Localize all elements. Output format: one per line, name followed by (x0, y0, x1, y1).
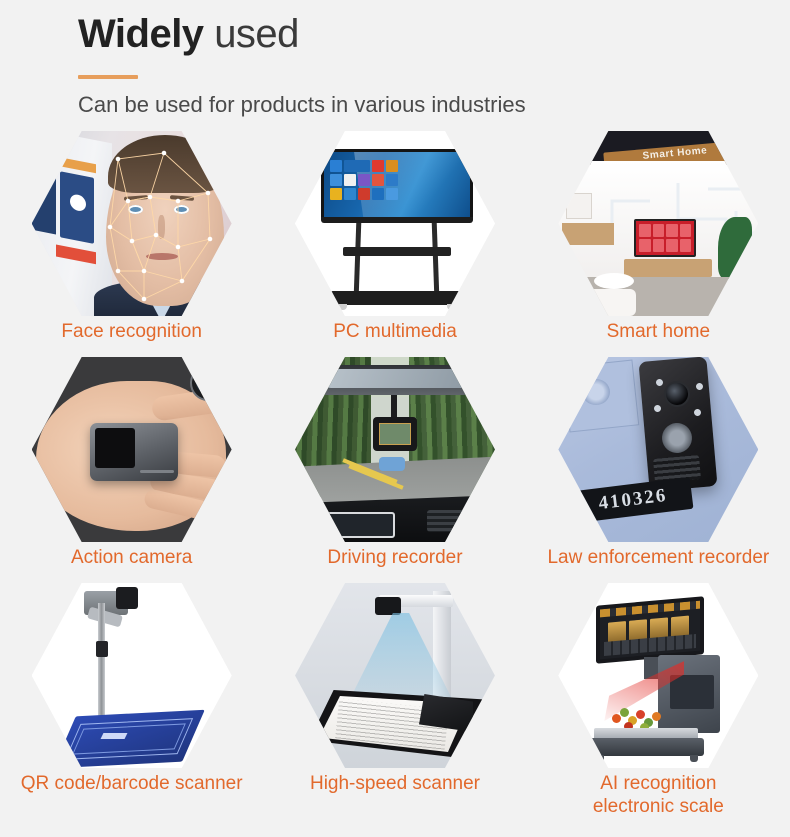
stand-pole-right (432, 223, 440, 295)
smart-home-illustration: Smart Home (558, 131, 758, 316)
industry-grid: Face recognition (0, 131, 790, 809)
hexagon-image-high-speed-scanner (295, 583, 495, 768)
camera-lens-glass (196, 371, 220, 395)
hexagon-image-ai-recognition-electronic-scale (558, 583, 758, 768)
vanity-cabinet (562, 223, 614, 245)
page-title-light: used (214, 12, 299, 56)
stand-shelf (343, 247, 451, 256)
tv-content-grid (639, 224, 691, 252)
stand-pole-left (354, 223, 362, 295)
grid-item-driving-recorder[interactable]: Driving recorder (263, 357, 526, 583)
grid-item-smart-home[interactable]: Smart Home (527, 131, 790, 357)
display-panel (321, 149, 473, 221)
scanner-base-plate (53, 710, 205, 768)
grid-item-ai-recognition-electronic-scale[interactable]: AI recognition electronic scale (527, 583, 790, 809)
caster-wheel-left (337, 304, 347, 310)
grid-item-pc-multimedia[interactable]: PC multimedia (263, 131, 526, 357)
wall-television (634, 219, 696, 257)
robot-vacuum (722, 298, 746, 308)
hexagon-image-pc-multimedia (295, 131, 495, 316)
camera-rear-screen (95, 428, 135, 468)
hex-image-wrap (295, 131, 495, 316)
display-screen (324, 152, 470, 218)
hexagon-image-face-recognition (32, 131, 232, 316)
showroom-floor (558, 277, 758, 316)
caption-driving-recorder: Driving recorder (327, 546, 462, 570)
officer-number-text: 410326 (598, 485, 669, 515)
hexagon-image-driving-recorder (295, 357, 495, 542)
scanner-camera-head (116, 587, 138, 609)
scanner-camera-head (375, 597, 401, 615)
hex-image-wrap (32, 357, 232, 542)
air-freshener (379, 457, 405, 471)
rear-view-mirror-glass (325, 369, 467, 388)
caption-face-recognition: Face recognition (61, 320, 201, 344)
potted-plant (718, 217, 752, 279)
hex-image-wrap (295, 583, 495, 768)
caption-ai-recognition-electronic-scale: AI recognition electronic scale (568, 772, 748, 818)
high-speed-scanner-illustration (295, 583, 495, 768)
law-enforcement-recorder-illustration: 410326 (558, 357, 758, 542)
caption-law-enforcement-recorder: Law enforcement recorder (547, 546, 769, 570)
face-recognition-illustration (32, 131, 232, 316)
caption-smart-home: Smart home (607, 320, 710, 344)
driving-recorder-illustration (295, 357, 495, 542)
hexagon-image-law-enforcement-recorder: 410326 (558, 357, 758, 542)
hex-image-wrap (32, 131, 232, 316)
scale-foot-right (690, 755, 698, 762)
scale-plinth (588, 738, 704, 756)
hexagon-image-qr-barcode-scanner (32, 583, 232, 768)
air-vent (427, 510, 473, 532)
pole-clamp (96, 641, 108, 657)
base-logo-mark (100, 733, 127, 739)
hex-image-wrap (295, 357, 495, 542)
action-camera-body (90, 423, 178, 481)
caption-action-camera: Action camera (71, 546, 192, 570)
grid-item-face-recognition[interactable]: Face recognition (0, 131, 263, 357)
grid-item-qr-barcode-scanner[interactable]: QR code/barcode scanner (0, 583, 263, 809)
hexagon-image-smart-home: Smart Home (558, 131, 758, 316)
scale-touchscreen (596, 596, 704, 663)
hex-image-wrap: 410326 (558, 357, 758, 542)
bathroom-mirror (566, 193, 592, 219)
hex-image-wrap: Smart Home (558, 131, 758, 316)
caster-wheel-right (447, 304, 457, 310)
sofa (576, 289, 636, 316)
start-menu-tiles (330, 160, 398, 200)
display-bottom-bezel (321, 217, 473, 223)
header: Widely used (78, 8, 299, 60)
qr-barcode-scanner-illustration (32, 583, 232, 768)
grid-item-action-camera[interactable]: Action camera (0, 357, 263, 583)
hexagon-image-action-camera (32, 357, 232, 542)
hex-image-wrap (32, 583, 232, 768)
caption-pc-multimedia: PC multimedia (333, 320, 457, 344)
title-accent-rule (78, 75, 138, 79)
caption-qr-barcode-scanner: QR code/barcode scanner (21, 772, 243, 796)
action-camera-illustration (32, 357, 232, 542)
scale-foot-left (596, 755, 604, 762)
touchscreen-display (600, 601, 700, 660)
stand-base (331, 291, 461, 305)
tv-console (624, 259, 712, 277)
scanner-pole (98, 603, 105, 725)
label-printer (670, 675, 714, 709)
dashcam-screen (379, 423, 411, 445)
pc-multimedia-illustration (295, 131, 495, 316)
page-title-strong: Widely (78, 12, 204, 56)
grid-item-law-enforcement-recorder[interactable]: 410326 Law enforcement recorder (527, 357, 790, 583)
hex-image-wrap (558, 583, 758, 768)
widely-used-section: Widely used Can be used for products in … (0, 0, 790, 837)
camera-label-strip (140, 470, 174, 473)
grid-item-high-speed-scanner[interactable]: High-speed scanner (263, 583, 526, 809)
infotainment-screen (327, 512, 395, 538)
page-title: Widely used (78, 8, 299, 60)
ai-scale-illustration (558, 583, 758, 768)
face-landmark-mesh-icon (32, 131, 232, 316)
page-subtitle: Can be used for products in various indu… (78, 90, 526, 120)
officer-number-plate: 410326 (573, 477, 694, 523)
caption-high-speed-scanner: High-speed scanner (310, 772, 480, 796)
